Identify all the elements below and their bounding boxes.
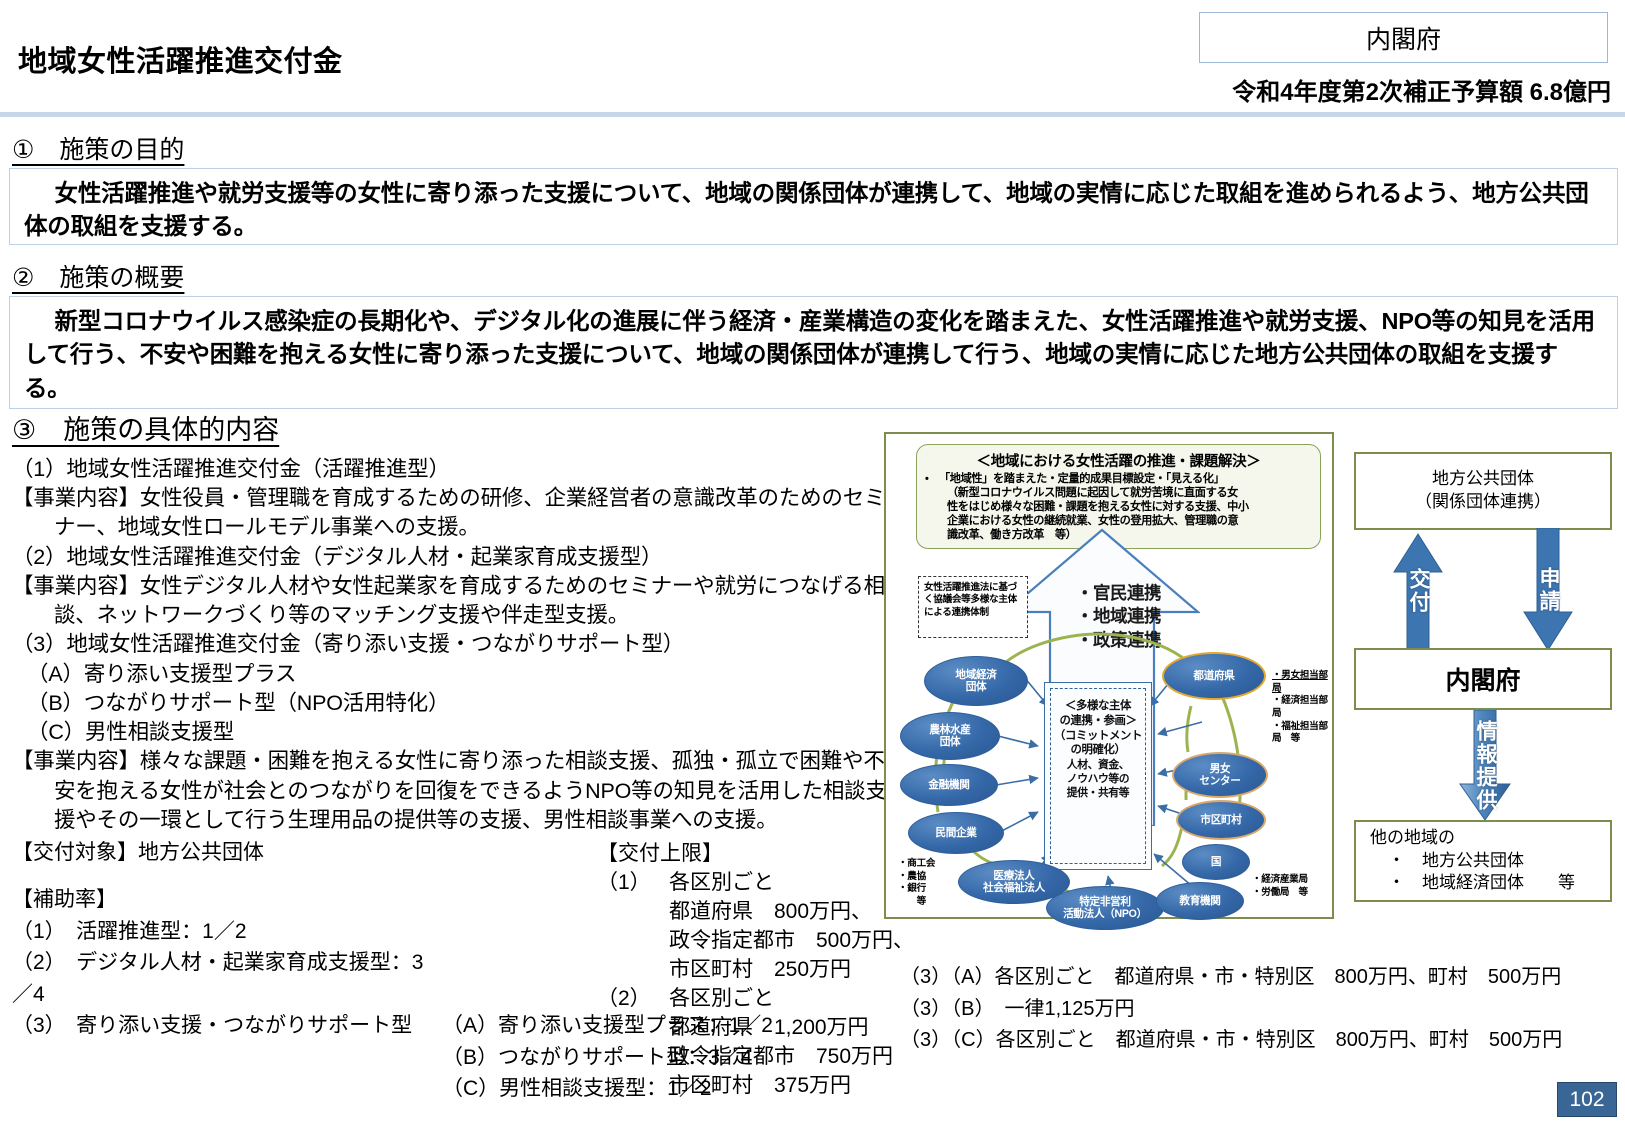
annot-minkan-examples: ・商工会 ・農協 ・銀行 等 [898,858,935,909]
node-chiiki-keizai-dantai: 地域経済 団体 [924,656,1028,706]
page-number-badge: 102 [1557,1082,1617,1117]
annot-line: 等 [898,896,935,909]
annot-line: ・男女担当部局 [1272,670,1332,695]
detail-line: （1）地域女性活躍推進交付金（活躍推進型） [12,455,892,484]
center-collaboration-box: ＜多様な主体 の連携・参画＞ （コミットメント の明確化） 人材、資金、 ノウハ… [1044,682,1152,870]
section-2-box: 新型コロナウイルス感染症の長期化や、デジタル化の進展に伴う経済・産業構造の変化を… [9,296,1618,409]
arrow-down-shinsei-label: 申請 [1522,528,1574,652]
detail-line: 援やその一環として行う生理用品の提供等の支援、男性相談事業への支援。 [12,806,892,835]
detail-line: 【事業内容】女性役員・管理職を育成するための研修、企業経営者の意識改革のためのセ… [12,484,892,513]
kofu-jogen-text: 都道府県 1,200万円 [597,1014,914,1043]
annot-kuni-bureaus: ・経済産業局 ・労働局 等 [1252,874,1308,899]
center-line: の明確化） [1045,743,1151,758]
section-1-text: 女性活躍推進や就労支援等の女性に寄り添った支援について、地域の関係団体が連携して… [24,177,1603,244]
detail-line: （A）寄り添い支援型プラス [12,660,892,689]
annot-line: ・農協 [898,871,935,884]
header-divider [0,112,1625,117]
section-1-heading: ① 施策の目的 [12,130,184,166]
flow-box-line: ・ 地域経済団体 等 [1370,872,1575,895]
ministry-badge: 内閣府 [1199,12,1608,63]
flow-box-line: （関係団体連携） [1415,491,1551,514]
center-line: 人材、資金、 [1045,758,1151,772]
flow-box-line: ・ 地方公共団体 [1370,850,1524,873]
section-1-box: 女性活躍推進や就労支援等の女性に寄り添った支援について、地域の関係団体が連携して… [9,168,1618,245]
detail-line: 談、ネットワークづくり等のマッチング支援や伴走型支援。 [12,601,892,630]
node-norin-suisan-dantai: 農林水産 団体 [900,712,1000,760]
hojoritsu-left [12,1073,442,1105]
network-diagram-panel: ＜地域における女性活躍の推進・課題解決＞ 「地域性」を踏まえた・定量的成果目標設… [884,432,1334,919]
kofu-jogen-text: 市区町村 375万円 [597,1072,914,1101]
arrow-down-shinsei: 申請 [1522,528,1574,652]
section-3-details: （1）地域女性活躍推進交付金（活躍推進型） 【事業内容】女性役員・管理職を育成す… [12,455,892,835]
node-npo-hojin: 特定非営利 活動法人（NPO） [1046,886,1164,930]
detail-line: ナー、地域女性ロールモデル事業への支援。 [12,513,892,542]
flow-box-cabinet-office: 内閣府 [1354,648,1612,710]
hojoritsu-left: （3） 寄り添い支援・つながりサポート型 [12,1010,442,1042]
flow-box-line: 地方公共団体 [1432,468,1534,491]
annot-line: ・経済産業局 [1252,874,1308,887]
kofu-taisho-line: 【交付対象】地方公共団体 [12,836,264,866]
page-title: 地域女性活躍推進交付金 [18,38,343,80]
node-todofuken: 都道府県 [1162,652,1266,700]
kofu-jogen-text: 政令指定都市 500万円、 [597,927,914,956]
annot-line: ・福祉担当部局 等 [1272,721,1332,746]
annot-line: ・経済担当部局 [1272,695,1332,720]
kofu-jogen-type3-row: （3）（A）各区別ごと 都道府県・市・特別区 800万円、町村 500万円 [900,962,1562,994]
detail-line: （C）男性相談支援型 [12,718,892,747]
annot-line: ・労働局 等 [1252,887,1308,900]
kofu-jogen-type3-row: （3）（C）各区別ごと 都道府県・市・特別区 800万円、町村 500万円 [900,1025,1562,1057]
funding-flow-column: 地方公共団体 （関係団体連携） 交付 申請 内閣府 [1344,440,1624,920]
kofu-jogen-heading: 【交付上限】 [597,840,914,869]
annot-todofuken-bureaus: ・男女担当部局 ・経済担当部局 ・福祉担当部局 等 [1272,670,1332,746]
hojoritsu-left: （1） 活躍推進型：1／2 [12,916,442,948]
kofu-jogen-num: （1） [597,869,669,898]
kofu-jogen-row: （1） 各区別ごと [597,869,914,898]
kofu-jogen-text: 都道府県 800万円、 [597,898,914,927]
kofu-jogen-type3-block: （3）（A）各区別ごと 都道府県・市・特別区 800万円、町村 500万円 （3… [900,962,1562,1057]
kofu-jogen-text: 各区別ごと [669,869,774,898]
node-minkan-kigyo: 民間企業 [908,812,1004,854]
detail-line: 【事業内容】女性デジタル人材や女性起業家を育成するためのセミナーや就労につなげる… [12,572,892,601]
center-line: （コミットメント [1045,729,1151,744]
arrow-up-kofu: 交付 [1392,532,1444,650]
slide-page: 地域女性活躍推進交付金 内閣府 令和4年度第2次補正予算額 6.8億円 ① 施策… [0,0,1625,1125]
ministry-label: 内閣府 [1366,20,1441,56]
annot-line: ・商工会 [898,858,935,871]
kofu-jogen-num: （2） [597,985,669,1014]
detail-line: （3）地域女性活躍推進交付金（寄り添い支援・つながりサポート型） [12,630,892,659]
node-danjo-center: 男女 センター [1172,752,1268,798]
node-shikuchoson: 市区町村 [1176,800,1266,840]
center-line: の連携・参画＞ [1045,714,1151,729]
detail-line: 【事業内容】様々な課題・困難を抱える女性に寄り添った相談支援、孤独・孤立で困難や… [12,747,892,776]
annot-line-underlined: ・男女担当部局 [1272,670,1328,694]
center-box-text: ＜多様な主体 の連携・参画＞ （コミットメント の明確化） 人材、資金、 ノウハ… [1045,699,1151,800]
kofu-jogen-text: 市区町村 250万円 [597,956,914,985]
detail-line: （2）地域女性活躍推進交付金（デジタル人材・起業家育成支援型） [12,543,892,572]
flow-box-other-regions: 他の地域の ・ 地方公共団体 ・ 地域経済団体 等 [1354,820,1612,902]
diagram-area: ＜地域における女性活躍の推進・課題解決＞ 「地域性」を踏まえた・定量的成果目標設… [884,432,1624,922]
kofu-jogen-block: 【交付上限】 （1） 各区別ごと 都道府県 800万円、 政令指定都市 500万… [597,840,914,1101]
kofu-jogen-type3-row: （3）（B） 一律1,125万円 [900,994,1562,1026]
arrow-up-kofu-label: 交付 [1392,532,1444,650]
detail-line: 安を抱える女性が社会とのつながりを回復をできるようNPO等の知見を活用した相談支 [12,777,892,806]
kofu-jogen-row: （2） 各区別ごと [597,985,914,1014]
flow-box-local-government: 地方公共団体 （関係団体連携） [1354,452,1612,530]
section-3-heading: ③ 施策の具体的内容 [12,408,279,447]
section-2-text: 新型コロナウイルス感染症の長期化や、デジタル化の進展に伴う経済・産業構造の変化を… [24,305,1603,405]
arrow-down-joho-teikyo-label: 情報提供 [1458,710,1512,822]
node-kinyu-kikan: 金融機関 [900,764,998,806]
section-2-heading: ② 施策の概要 [12,258,184,294]
annot-line: ・銀行 [898,883,935,896]
flow-box-line: 他の地域の [1370,827,1455,850]
node-kyoiku-kikan: 教育機関 [1156,882,1244,920]
hojoritsu-left: （2） デジタル人材・起業家育成支援型：3／4 [12,947,442,1010]
kofu-jogen-text: 政令指定都市 750万円 [597,1043,914,1072]
flow-box-line: 内閣府 [1445,661,1520,697]
budget-amount: 令和4年度第2次補正予算額 6.8億円 [1232,72,1611,107]
center-line: ＜多様な主体 [1045,699,1151,714]
detail-line: （B）つながりサポート型（NPO活用特化） [12,689,892,718]
center-line: ノウハウ等の [1045,772,1151,786]
hojoritsu-left [12,1042,442,1074]
node-kuni: 国 [1182,844,1250,880]
kofu-jogen-text: 各区別ごと [669,985,774,1014]
arrow-down-joho-teikyo: 情報提供 [1458,710,1512,822]
center-line: 提供・共有等 [1045,786,1151,800]
